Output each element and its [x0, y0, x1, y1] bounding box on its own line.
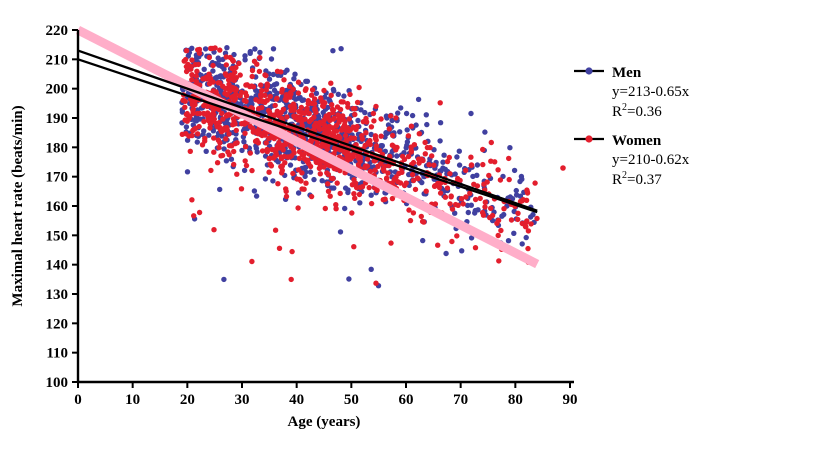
scatter-point — [329, 93, 334, 98]
scatter-point — [183, 57, 188, 62]
scatter-point — [365, 164, 370, 169]
scatter-point — [445, 159, 450, 164]
scatter-point — [233, 65, 238, 70]
scatter-point — [457, 162, 462, 167]
scatter-point — [221, 277, 226, 282]
scatter-point — [239, 186, 244, 191]
scatter-point — [459, 248, 464, 253]
scatter-point — [183, 99, 188, 104]
scatter-point — [248, 150, 253, 155]
scatter-point — [363, 130, 368, 135]
scatter-point — [230, 73, 235, 78]
scatter-point — [200, 76, 205, 81]
scatter-point — [457, 149, 462, 154]
scatter-point — [310, 87, 315, 92]
scatter-point — [309, 194, 314, 199]
scatter-point — [205, 104, 210, 109]
scatter-point — [224, 158, 229, 163]
y-axis-title: Maximal heart rate (beats/min) — [10, 105, 26, 306]
scatter-point — [459, 196, 464, 201]
scatter-point — [398, 105, 403, 110]
scatter-point — [438, 100, 443, 105]
y-tick-label: 150 — [46, 228, 69, 244]
scatter-point — [378, 134, 383, 139]
scatter-point — [274, 81, 279, 86]
y-tick-label: 120 — [46, 316, 69, 332]
scatter-point — [312, 107, 317, 112]
scatter-point — [443, 195, 448, 200]
scatter-point — [523, 220, 528, 225]
scatter-point — [409, 124, 414, 129]
scatter-point — [381, 197, 386, 202]
scatter-point — [258, 94, 263, 99]
scatter-point — [471, 182, 476, 187]
scatter-point — [349, 210, 354, 215]
scatter-point — [325, 181, 330, 186]
scatter-point — [211, 88, 216, 93]
scatter-point — [441, 153, 446, 158]
scatter-point — [373, 281, 378, 286]
legend-women-marker-icon — [585, 135, 592, 142]
scatter-point — [189, 72, 194, 77]
scatter-point — [269, 147, 274, 152]
scatter-point — [367, 138, 372, 143]
y-tick-label: 210 — [46, 52, 69, 68]
scatter-point — [411, 160, 416, 165]
scatter-point — [320, 178, 325, 183]
scatter-point — [480, 210, 485, 215]
scatter-point — [296, 90, 301, 95]
scatter-point — [304, 158, 309, 163]
scatter-point — [390, 196, 395, 201]
scatter-point — [511, 231, 516, 236]
scatter-point — [417, 131, 422, 136]
scatter-point — [306, 101, 311, 106]
scatter-point — [449, 239, 454, 244]
scatter-point — [196, 124, 201, 129]
scatter-point — [216, 145, 221, 150]
scatter-point — [196, 62, 201, 67]
scatter-point — [322, 100, 327, 105]
scatter-point — [257, 55, 262, 60]
scatter-point — [406, 133, 411, 138]
scatter-point — [338, 46, 343, 51]
scatter-point — [242, 168, 247, 173]
chart-canvas: 100110120130140150160170180190200210220 … — [0, 0, 819, 460]
scatter-point — [435, 243, 440, 248]
scatter-point — [224, 62, 229, 67]
scatter-point — [317, 120, 322, 125]
scatter-point — [269, 56, 274, 61]
legend-men-r2-prefix: R — [612, 104, 622, 120]
scatter-point — [524, 187, 529, 192]
scatter-point — [267, 156, 272, 161]
scatter-point — [284, 194, 289, 199]
scatter-point — [480, 147, 485, 152]
scatter-point — [393, 115, 398, 120]
legend-women-r2: R2=0.37 — [612, 170, 662, 188]
scatter-point — [281, 143, 286, 148]
legend-men-r2: R2=0.36 — [612, 102, 662, 120]
scatter-point — [506, 238, 511, 243]
scatter-point — [328, 194, 333, 199]
scatter-point — [234, 172, 239, 177]
scatter-point — [209, 115, 214, 120]
scatter-point — [360, 136, 365, 141]
scatter-point — [338, 191, 343, 196]
scatter-point — [208, 121, 213, 126]
scatter-point — [426, 162, 431, 167]
scatter-point — [268, 162, 273, 167]
scatter-point — [413, 122, 418, 127]
scatter-point — [266, 108, 271, 113]
x-tick-label: 60 — [399, 392, 414, 408]
scatter-point — [305, 79, 310, 84]
scatter-point — [424, 189, 429, 194]
scatter-point — [290, 171, 295, 176]
scatter-point — [424, 112, 429, 117]
scatter-point — [478, 196, 483, 201]
scatter-point — [425, 145, 430, 150]
scatter-point — [191, 213, 196, 218]
scatter-point — [482, 129, 487, 134]
scatter-point — [311, 177, 316, 182]
scatter-point — [341, 99, 346, 104]
scatter-point — [282, 160, 287, 165]
y-tick-label: 140 — [46, 258, 69, 274]
scatter-point — [217, 140, 222, 145]
scatter-point — [291, 76, 296, 81]
scatter-point — [348, 127, 353, 132]
scatter-point — [373, 104, 378, 109]
scatter-point — [369, 124, 374, 129]
scatter-point — [257, 50, 262, 55]
scatter-point — [330, 110, 335, 115]
scatter-point — [333, 206, 338, 211]
scatter-point — [188, 149, 193, 154]
scatter-point — [357, 192, 362, 197]
scatter-point — [341, 93, 346, 98]
scatter-point — [501, 206, 506, 211]
scatter-point — [223, 136, 228, 141]
scatter-point — [191, 106, 196, 111]
scatter-point — [263, 73, 268, 78]
scatter-point — [408, 218, 413, 223]
scatter-point — [413, 187, 418, 192]
scatter-point — [330, 48, 335, 53]
scatter-point — [211, 79, 216, 84]
scatter-point — [397, 129, 402, 134]
scatter-point — [380, 143, 385, 148]
scatter-point — [419, 214, 424, 219]
scatter-point — [509, 217, 514, 222]
scatter-point — [351, 244, 356, 249]
scatter-point — [335, 180, 340, 185]
scatter-point — [420, 238, 425, 243]
y-tick-label: 170 — [46, 170, 69, 186]
scatter-point — [273, 103, 278, 108]
scatter-point — [252, 188, 257, 193]
scatter-point — [217, 47, 222, 52]
scatter-point — [242, 131, 247, 136]
scatter-point — [506, 156, 511, 161]
x-axis-title: Age (years) — [288, 414, 361, 430]
scatter-point — [226, 82, 231, 87]
scatter-point — [296, 80, 301, 85]
scatter-point — [347, 116, 352, 121]
scatter-point — [355, 100, 360, 105]
scatter-point — [338, 229, 343, 234]
scatter-point — [390, 133, 395, 138]
scatter-point — [277, 246, 282, 251]
scatter-point — [378, 116, 383, 121]
x-tick-label: 70 — [453, 392, 468, 408]
scatter-point — [224, 54, 229, 59]
scatter-point — [486, 173, 491, 178]
scatter-point — [308, 169, 313, 174]
scatter-point — [334, 123, 339, 128]
scatter-point — [402, 183, 407, 188]
scatter-point — [185, 169, 190, 174]
scatter-point — [309, 117, 314, 122]
scatter-point — [256, 140, 261, 145]
scatter-point — [395, 110, 400, 115]
scatter-point — [449, 193, 454, 198]
scatter-point — [351, 177, 356, 182]
scatter-point — [280, 87, 285, 92]
x-tick-label: 50 — [344, 392, 359, 408]
scatter-point — [454, 154, 459, 159]
scatter-point — [423, 151, 428, 156]
scatter-point — [483, 200, 488, 205]
scatter-point — [344, 152, 349, 157]
scatter-point — [388, 240, 393, 245]
legend-men-r2-value: =0.36 — [627, 104, 662, 120]
scatter-point — [243, 144, 248, 149]
y-tick-label: 110 — [46, 346, 68, 362]
legend-women-equation: y=210-0.62x — [612, 152, 690, 168]
scatter-point — [182, 105, 187, 110]
scatter-point — [469, 162, 474, 167]
scatter-point — [244, 163, 249, 168]
y-tick-label: 220 — [46, 23, 69, 39]
scatter-point — [283, 97, 288, 102]
scatter-point — [480, 162, 485, 167]
scatter-point — [250, 74, 255, 79]
scatter-point — [498, 228, 503, 233]
scatter-point — [217, 73, 222, 78]
scatter-point — [515, 211, 520, 216]
scatter-point — [189, 197, 194, 202]
scatter-point — [332, 166, 337, 171]
outlier-point — [560, 165, 566, 171]
scatter-point — [259, 88, 264, 93]
scatter-point — [338, 107, 343, 112]
scatter-point — [534, 216, 539, 221]
scatter-point — [332, 128, 337, 133]
scatter-point — [515, 217, 520, 222]
scatter-point — [424, 122, 429, 127]
scatter-point — [514, 188, 519, 193]
scatter-point — [250, 126, 255, 131]
scatter-point — [184, 124, 189, 129]
scatter-point — [259, 105, 264, 110]
scatter-point — [230, 57, 235, 62]
scatter-point — [445, 185, 450, 190]
scatter-point — [194, 69, 199, 74]
scatter-point — [301, 187, 306, 192]
scatter-point — [218, 153, 223, 158]
scatter-point — [201, 128, 206, 133]
scatter-point — [367, 185, 372, 190]
scatter-point — [180, 132, 185, 137]
scatter-point — [195, 47, 200, 52]
scatter-point — [482, 204, 487, 209]
scatter-point — [324, 170, 329, 175]
scatter-point — [387, 126, 392, 131]
scatter-point — [202, 136, 207, 141]
scatter-point — [260, 99, 265, 104]
scatter-point — [249, 168, 254, 173]
scatter-point — [353, 126, 358, 131]
legend-men-equation: y=213-0.65x — [612, 84, 690, 100]
scatter-point — [238, 72, 243, 77]
scatter-point — [227, 143, 232, 148]
scatter-point — [346, 276, 351, 281]
scatter-point — [326, 189, 331, 194]
scatter-point — [248, 51, 253, 56]
scatter-point — [453, 202, 458, 207]
scatter-point — [295, 205, 300, 210]
scatter-point — [327, 118, 332, 123]
scatter-point — [239, 90, 244, 95]
y-tick-label: 160 — [46, 199, 69, 215]
scatter-point — [488, 159, 493, 164]
scatter-point — [297, 156, 302, 161]
scatter-point — [229, 94, 234, 99]
scatter-point — [211, 135, 216, 140]
scatter-point — [245, 82, 250, 87]
scatter-point — [421, 219, 426, 224]
scatter-point — [326, 127, 331, 132]
scatter-point — [296, 117, 301, 122]
scatter-point — [264, 140, 269, 145]
scatter-point — [323, 206, 328, 211]
scatter-point — [189, 77, 194, 82]
scatter-point — [258, 82, 263, 87]
scatter-point — [288, 162, 293, 167]
scatter-point — [498, 177, 503, 182]
scatter-point — [468, 111, 473, 116]
scatter-point — [466, 210, 471, 215]
scatter-point — [184, 69, 189, 74]
scatter-point — [204, 149, 209, 154]
scatter-point — [202, 67, 207, 72]
scatter-point — [356, 85, 361, 90]
scatter-point — [496, 258, 501, 263]
scatter-point — [272, 154, 277, 159]
scatter-point — [217, 80, 222, 85]
scatter-point — [242, 98, 247, 103]
scatter-point — [405, 139, 410, 144]
scatter-point — [328, 81, 333, 86]
scatter-point — [182, 117, 187, 122]
scatter-point — [431, 163, 436, 168]
scatter-point — [292, 72, 297, 77]
scatter-point — [348, 135, 353, 140]
scatter-point — [309, 93, 314, 98]
scatter-point — [216, 62, 221, 67]
scatter-point — [336, 92, 341, 97]
scatter-point — [392, 144, 397, 149]
legend-men-label: Men — [612, 65, 642, 81]
scatter-point — [378, 161, 383, 166]
scatter-point — [357, 185, 362, 190]
scatter-point — [185, 62, 190, 67]
scatter-point — [241, 139, 246, 144]
scatter-point — [406, 154, 411, 159]
scatter-point — [490, 213, 495, 218]
scatter-point — [249, 259, 254, 264]
scatter-point — [340, 113, 345, 118]
scatter-point — [470, 174, 475, 179]
x-tick-label: 40 — [289, 392, 304, 408]
scatter-point — [208, 46, 213, 51]
scatter-point — [289, 277, 294, 282]
scatter-point — [416, 97, 421, 102]
scatter-point — [321, 88, 326, 93]
scatter-point — [352, 112, 357, 117]
scatter-point — [438, 190, 443, 195]
scatter-point — [532, 180, 537, 185]
scatter-point — [343, 133, 348, 138]
scatter-point — [225, 149, 230, 154]
scatter-point — [217, 187, 222, 192]
scatter-point — [410, 113, 415, 118]
scatter-point — [331, 87, 336, 92]
scatter-point — [284, 114, 289, 119]
scatter-point — [242, 121, 247, 126]
scatter-point — [422, 140, 427, 145]
scatter-point — [404, 145, 409, 150]
scatter-point — [394, 153, 399, 158]
figure-background — [0, 0, 819, 460]
scatter-point — [528, 214, 533, 219]
scatter-point — [475, 162, 480, 167]
scatter-point — [371, 118, 376, 123]
y-tick-label: 130 — [46, 287, 69, 303]
scatter-point — [257, 69, 262, 74]
scatter-point — [345, 104, 350, 109]
scatter-point — [496, 233, 501, 238]
scatter-point — [197, 210, 202, 215]
scatter-point — [268, 135, 273, 140]
y-tick-label: 100 — [46, 375, 69, 391]
scatter-point — [252, 46, 257, 51]
scatter-point — [263, 176, 268, 181]
scatter-point — [206, 75, 211, 80]
scatter-point — [294, 176, 299, 181]
y-tick-label: 180 — [46, 140, 69, 156]
scatter-point — [304, 106, 309, 111]
x-tick-label: 20 — [180, 392, 195, 408]
scatter-point — [217, 125, 222, 130]
scatter-point — [374, 137, 379, 142]
scatter-point — [450, 206, 455, 211]
scatter-point — [343, 185, 348, 190]
scatter-point — [285, 154, 290, 159]
scatter-point — [443, 251, 448, 256]
